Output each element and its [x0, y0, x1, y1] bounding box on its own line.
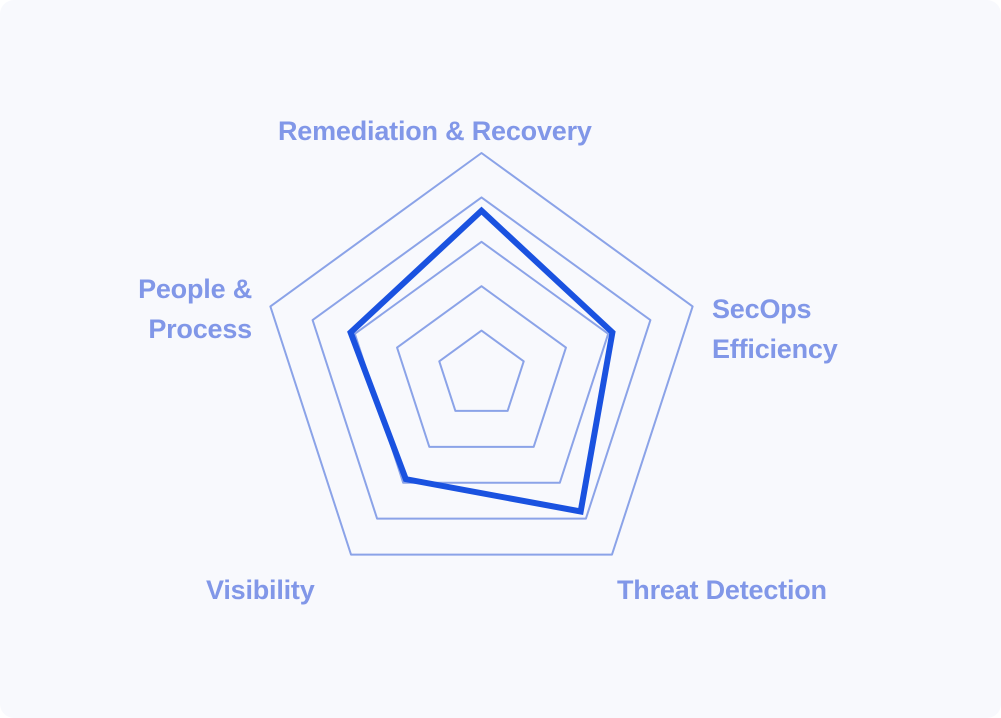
- radar-chart-svg: [0, 0, 1001, 718]
- radar-grid-ring-1: [439, 331, 523, 411]
- axis-label-remediation-and-recovery: Remediation & Recovery: [278, 112, 592, 152]
- axis-label-secops-efficiency: SecOps Efficiency: [712, 290, 838, 370]
- radar-series: [351, 211, 613, 512]
- axis-label-visibility: Visibility: [206, 571, 315, 611]
- axis-label-threat-detection: Threat Detection: [617, 571, 827, 611]
- radar-grid-ring-2: [397, 286, 566, 447]
- radar-series-polygon-0: [351, 211, 613, 512]
- axis-label-people-and-process: People & Process: [108, 270, 252, 350]
- radar-chart-page: Remediation & Recovery SecOps Efficiency…: [0, 0, 1001, 718]
